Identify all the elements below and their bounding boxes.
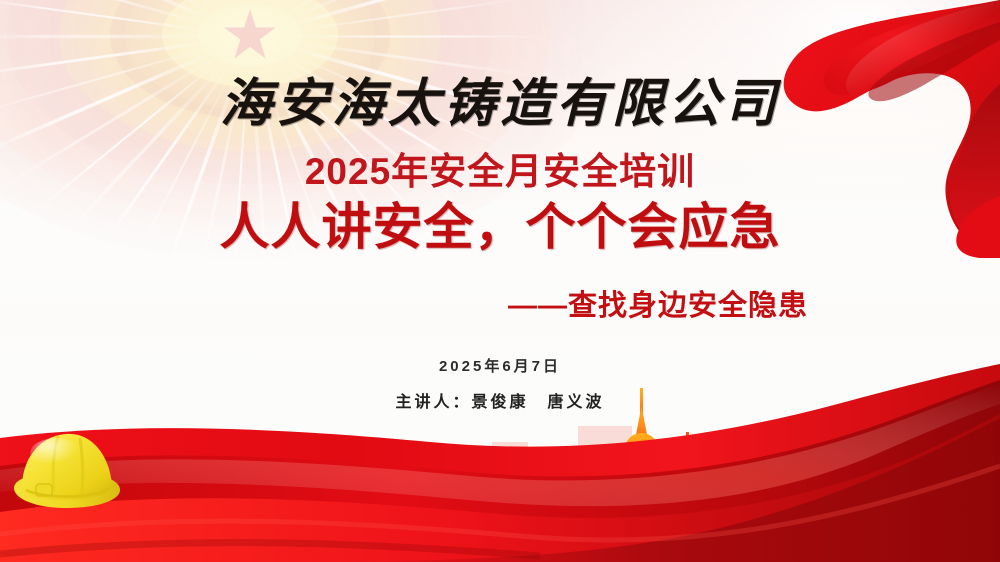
slide-text-layer: 海安海太铸造有限公司 2025年安全月安全培训 人人讲安全，个个会应急 ——查找… (0, 0, 1000, 562)
presentation-date: 2025年6月7日 (0, 355, 1000, 376)
training-title: 2025年安全月安全培训 (0, 153, 1000, 190)
slogan-subline: ——查找身边安全隐患 (508, 292, 808, 321)
company-name-title: 海安海太铸造有限公司 (0, 78, 1000, 130)
presenter-names: 主讲人：景俊康 唐义波 (0, 388, 1000, 412)
main-slogan: 人人讲安全，个个会应急 (0, 200, 1000, 255)
presentation-slide: 海安海太铸造有限公司 2025年安全月安全培训 人人讲安全，个个会应急 ——查找… (0, 0, 1000, 562)
